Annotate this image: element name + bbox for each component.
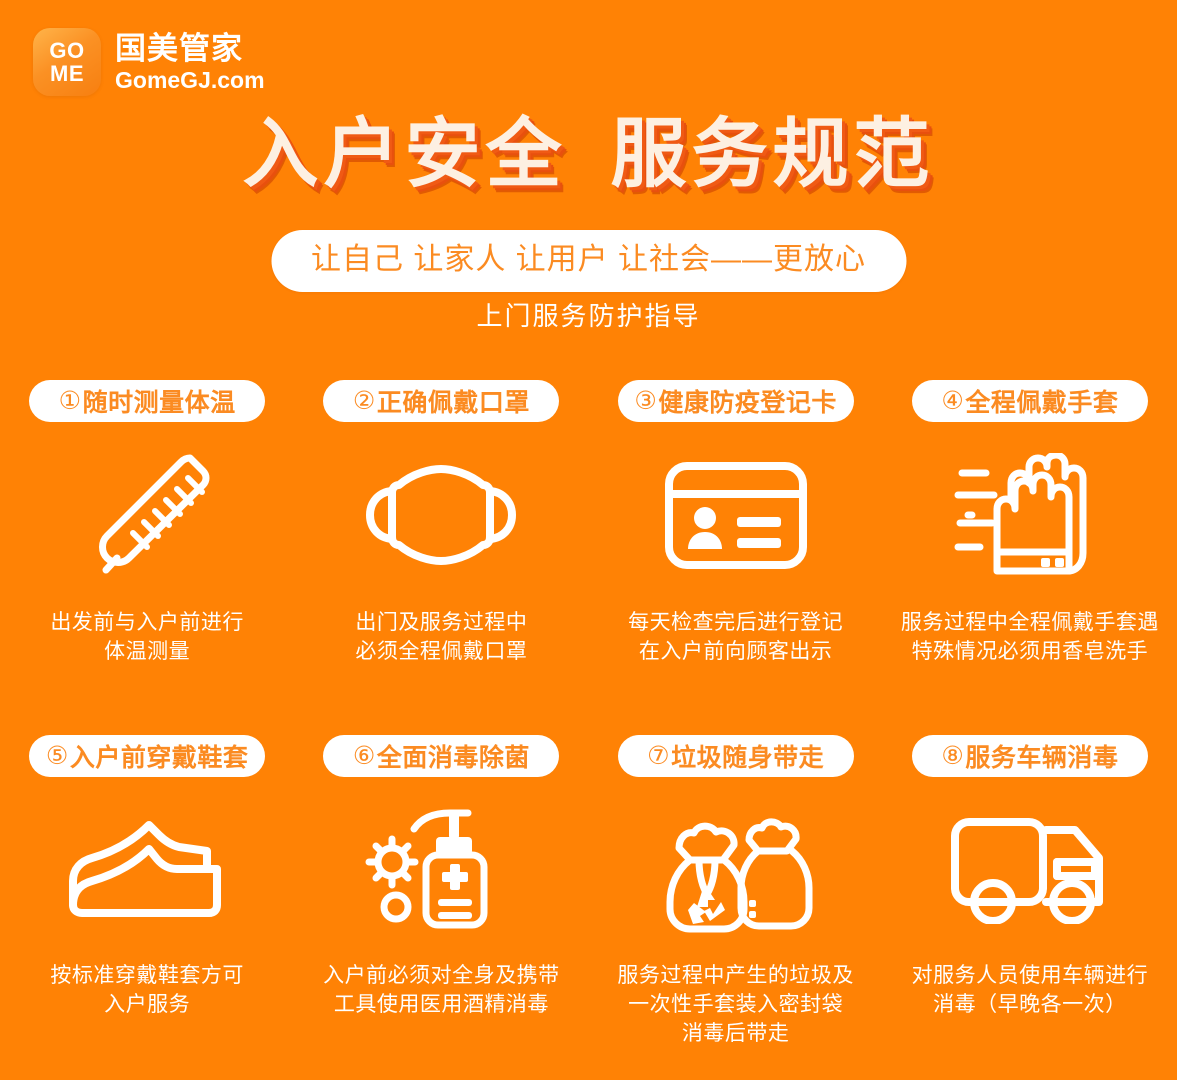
step-title-1: 随时测量体温 xyxy=(83,383,236,419)
logo-line-me: ME xyxy=(50,62,84,85)
step-card-2: ②正确佩戴口罩 出门及服务过程中 必须全程佩戴口罩 xyxy=(294,380,588,666)
step-number-1: ① xyxy=(59,386,82,416)
brand-name-cn: 国美管家 xyxy=(115,32,265,66)
step-title-3: 健康防疫登记卡 xyxy=(658,383,837,419)
step-pill-6: ⑥全面消毒除菌 xyxy=(323,735,559,777)
step-number-4: ④ xyxy=(941,386,964,416)
subtitle-pill: 让自己 让家人 让用户 让社会——更放心 xyxy=(271,230,906,292)
step-number-3: ③ xyxy=(634,386,657,416)
step-title-7: 垃圾随身带走 xyxy=(671,738,824,774)
step-icon-wrap-3 xyxy=(661,440,811,590)
step-caption-8: 对服务人员使用车辆进行 消毒（早晚各一次） xyxy=(912,961,1149,1019)
step-caption-7: 服务过程中产生的垃圾及 一次性手套装入密封袋 消毒后带走 xyxy=(617,961,854,1048)
step-caption-1: 出发前与入户前进行 体温测量 xyxy=(50,608,244,666)
delivery-truck-icon xyxy=(947,814,1112,924)
step-pill-8: ⑧服务车辆消毒 xyxy=(912,735,1148,777)
step-number-7: ⑦ xyxy=(647,741,670,771)
step-caption-4: 服务过程中全程佩戴手套遇 特殊情况必须用香皂洗手 xyxy=(901,608,1159,666)
trash-bags-icon xyxy=(653,804,818,934)
step-number-5: ⑤ xyxy=(46,741,69,771)
step-caption-2: 出门及服务过程中 必须全程佩戴口罩 xyxy=(355,608,527,666)
step-pill-1: ①随时测量体温 xyxy=(29,380,265,422)
header-caption: 上门服务防护指导 xyxy=(0,298,1177,334)
step-card-6: ⑥全面消毒除菌 xyxy=(294,735,588,1048)
title-part-2: 服务规范 xyxy=(611,112,935,197)
step-icon-wrap-8 xyxy=(947,799,1112,939)
step-icon-wrap-7 xyxy=(653,799,818,939)
step-icon-wrap-4 xyxy=(950,440,1110,590)
step-number-8: ⑧ xyxy=(941,741,964,771)
step-icon-wrap-5 xyxy=(65,799,230,939)
step-card-7: ⑦垃圾随身带走 xyxy=(589,735,883,1048)
steps-row-2: ⑤入户前穿戴鞋套 按标准穿戴鞋套方可 入户服务 ⑥全面消毒除菌 xyxy=(0,735,1177,1048)
step-caption-3: 每天检查完后进行登记 在入户前向顾客出示 xyxy=(628,608,843,666)
brand-name-en: GomeGJ.com xyxy=(115,68,265,93)
thermometer-icon xyxy=(77,450,217,580)
step-pill-2: ②正确佩戴口罩 xyxy=(323,380,559,422)
step-card-5: ⑤入户前穿戴鞋套 按标准穿戴鞋套方可 入户服务 xyxy=(0,735,294,1048)
steps-row-1: ①随时测量体温 xyxy=(0,380,1177,666)
brand-text: 国美管家 GomeGJ.com xyxy=(115,32,265,93)
title-part-1: 入户安全 xyxy=(243,112,567,197)
step-caption-5: 按标准穿戴鞋套方可 入户服务 xyxy=(50,961,244,1019)
step-title-6: 全面消毒除菌 xyxy=(377,738,530,774)
step-title-8: 服务车辆消毒 xyxy=(965,738,1118,774)
step-pill-3: ③健康防疫登记卡 xyxy=(618,380,854,422)
step-title-2: 正确佩戴口罩 xyxy=(377,383,530,419)
step-title-4: 全程佩戴手套 xyxy=(965,383,1118,419)
poster-root: GO ME 国美管家 GomeGJ.com 入户安全服务规范 让自己 让家人 让… xyxy=(0,0,1177,1080)
step-pill-7: ⑦垃圾随身带走 xyxy=(618,735,854,777)
step-card-1: ①随时测量体温 xyxy=(0,380,294,666)
page-title: 入户安全服务规范 xyxy=(0,112,1177,198)
step-icon-wrap-2 xyxy=(361,440,521,590)
step-icon-wrap-6 xyxy=(364,799,519,939)
step-number-2: ② xyxy=(353,386,376,416)
face-mask-icon xyxy=(361,460,521,570)
step-pill-4: ④全程佩戴手套 xyxy=(912,380,1148,422)
step-caption-6: 入户前必须对全身及携带 工具使用医用酒精消毒 xyxy=(323,961,560,1019)
step-title-5: 入户前穿戴鞋套 xyxy=(70,738,249,774)
step-icon-wrap-1 xyxy=(77,440,217,590)
brand-logo: GO ME 国美管家 GomeGJ.com xyxy=(33,28,265,96)
sanitizer-bottle-icon xyxy=(364,807,519,932)
step-number-6: ⑥ xyxy=(353,741,376,771)
gloves-icon xyxy=(950,453,1110,578)
id-card-icon xyxy=(661,458,811,573)
step-card-4: ④全程佩戴手套 xyxy=(883,380,1177,666)
step-pill-5: ⑤入户前穿戴鞋套 xyxy=(29,735,265,777)
step-card-8: ⑧服务车辆消毒 对服务人员使用车辆进行 消毒（早晚各一次） xyxy=(883,735,1177,1048)
gome-logo-mark: GO ME xyxy=(33,28,101,96)
shoe-cover-icon xyxy=(65,817,230,922)
logo-line-go: GO xyxy=(49,39,84,62)
step-card-3: ③健康防疫登记卡 每天检查完后进行登记 在入户前向顾客出示 xyxy=(589,380,883,666)
